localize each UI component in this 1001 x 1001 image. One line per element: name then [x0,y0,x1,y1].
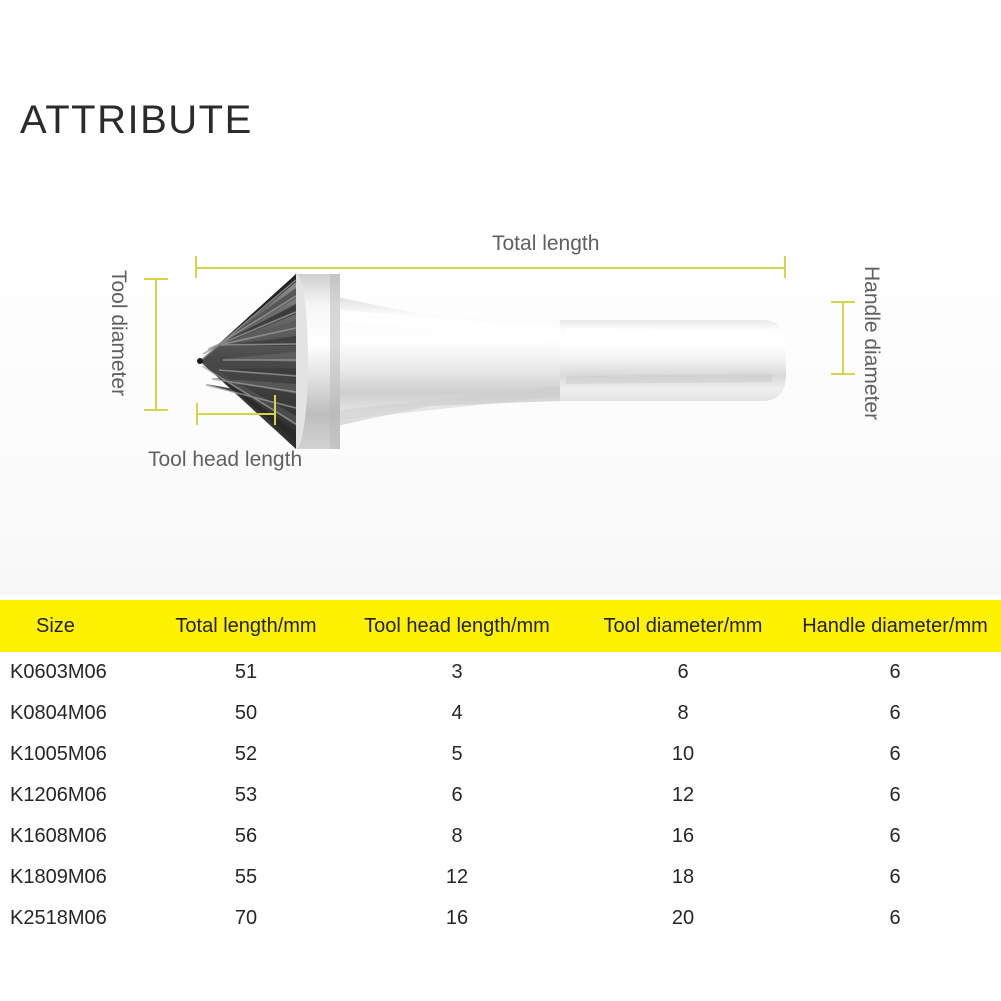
th-size: Size [0,600,155,652]
cell-total-length: 55 [155,857,337,898]
cell-tool-diameter: 8 [577,693,789,734]
cell-tool-head-length: 16 [337,898,577,939]
cell-tool-diameter: 10 [577,734,789,775]
cell-tool-head-length: 4 [337,693,577,734]
cell-handle-diameter: 6 [789,734,1001,775]
table-row: K1005M06525106 [0,734,1001,775]
table-row: K1608M06568166 [0,816,1001,857]
cell-handle-diameter: 6 [789,898,1001,939]
product-attribute-page: ATTRIBUTE [0,0,1001,1001]
specification-table: Size Total length/mm Tool head length/mm… [0,600,1001,939]
cell-total-length: 52 [155,734,337,775]
cell-handle-diameter: 6 [789,652,1001,693]
table-body: K0603M0651366K0804M0650486K1005M06525106… [0,652,1001,939]
specification-table-wrapper: Size Total length/mm Tool head length/mm… [0,600,1001,939]
cell-tool-head-length: 3 [337,652,577,693]
table-row: K1809M065512186 [0,857,1001,898]
th-total-length: Total length/mm [155,600,337,652]
cell-tool-diameter: 20 [577,898,789,939]
cell-tool-head-length: 5 [337,734,577,775]
page-title: ATTRIBUTE [20,93,259,147]
cell-total-length: 50 [155,693,337,734]
th-tool-head-length: Tool head length/mm [337,600,577,652]
cell-size: K1206M06 [0,775,155,816]
cell-size: K0804M06 [0,693,155,734]
cell-handle-diameter: 6 [789,693,1001,734]
cell-size: K1005M06 [0,734,155,775]
cell-size: K0603M06 [0,652,155,693]
product-diagram: Total length Tool diameter Handle diamet… [0,170,1001,595]
dim-label-tool-diameter: Tool diameter [106,270,130,396]
table-header: Size Total length/mm Tool head length/mm… [0,600,1001,652]
cell-tool-diameter: 12 [577,775,789,816]
table-header-row: Size Total length/mm Tool head length/mm… [0,600,1001,652]
cell-total-length: 53 [155,775,337,816]
cell-total-length: 56 [155,816,337,857]
cell-handle-diameter: 6 [789,775,1001,816]
dim-label-handle-diameter: Handle diameter [859,266,883,420]
cell-handle-diameter: 6 [789,816,1001,857]
table-row: K0603M0651366 [0,652,1001,693]
cell-tool-head-length: 8 [337,816,577,857]
dim-label-tool-head-length: Tool head length [148,448,302,472]
table-row: K1206M06536126 [0,775,1001,816]
cell-tool-head-length: 6 [337,775,577,816]
th-tool-diameter: Tool diameter/mm [577,600,789,652]
cell-tool-head-length: 12 [337,857,577,898]
dim-label-total-length: Total length [492,232,599,256]
th-handle-diameter: Handle diameter/mm [789,600,1001,652]
cell-tool-diameter: 6 [577,652,789,693]
cell-tool-diameter: 16 [577,816,789,857]
cell-size: K1608M06 [0,816,155,857]
table-row: K0804M0650486 [0,693,1001,734]
table-row: K2518M067016206 [0,898,1001,939]
cell-size: K1809M06 [0,857,155,898]
cell-total-length: 70 [155,898,337,939]
cell-tool-diameter: 18 [577,857,789,898]
cell-size: K2518M06 [0,898,155,939]
cell-total-length: 51 [155,652,337,693]
cell-handle-diameter: 6 [789,857,1001,898]
